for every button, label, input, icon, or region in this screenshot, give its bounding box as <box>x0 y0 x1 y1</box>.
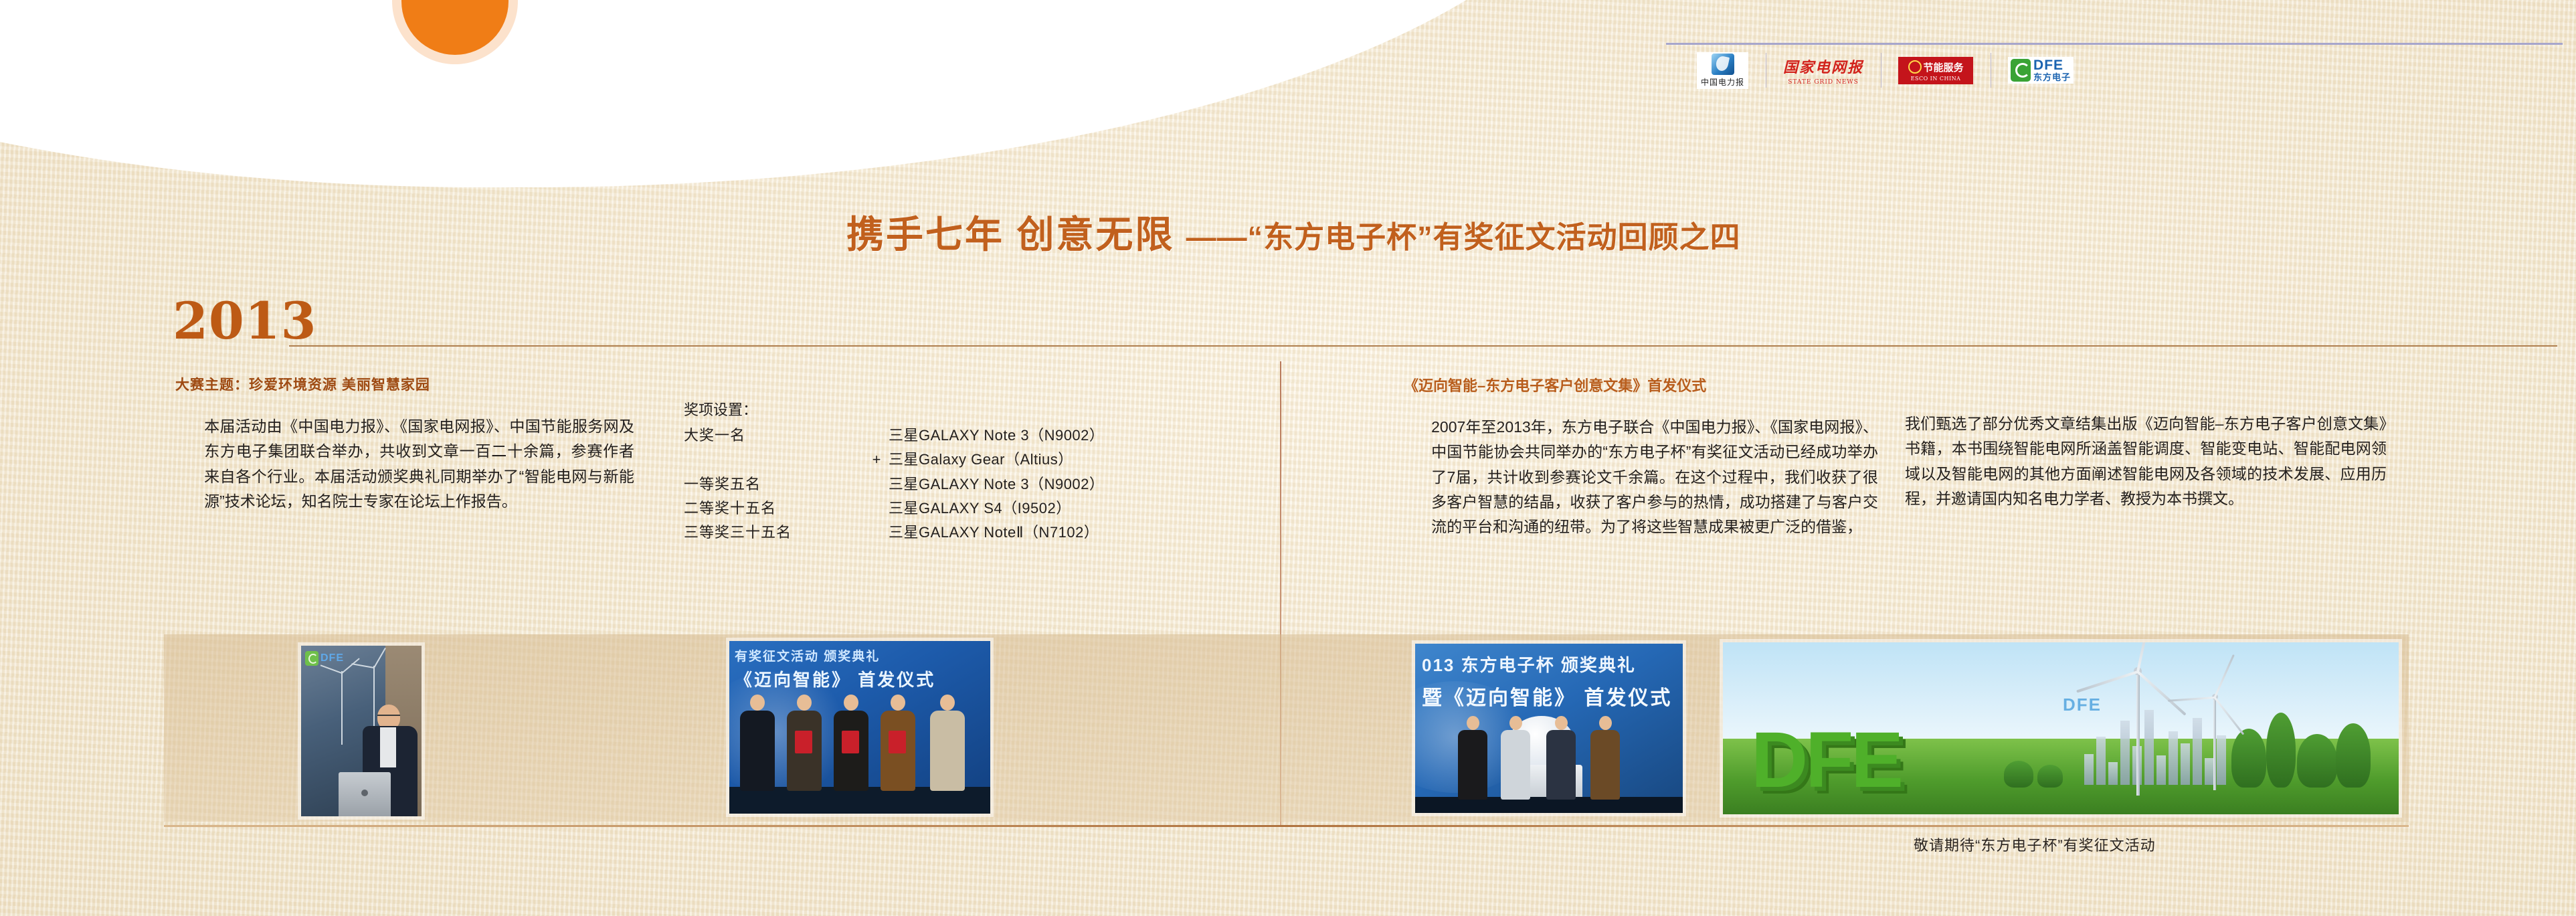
table-row: 二等奖十五名 三星GALAXY S4（I9502） <box>684 496 1104 521</box>
award-label <box>684 448 864 472</box>
award-plus <box>864 521 889 545</box>
award-plus <box>864 472 889 496</box>
person-head <box>1467 716 1479 730</box>
sponsor-logo-bar: 中国电力报 国家电网报 STATE GRID NEWS 节能服务 ESCO IN… <box>1679 50 2563 91</box>
person-body <box>930 711 965 791</box>
eyeglasses-icon <box>377 715 400 721</box>
table-row: 大奖一名 三星GALAXY Note 3（N9002） <box>684 424 1104 448</box>
dfe-3d-logo-text: DFE <box>1751 729 1901 792</box>
page-title-sub: ——“东方电子杯”有奖征文活动回顾之四 <box>1186 220 1741 254</box>
photo-launch-ceremony[interactable]: 013 东方电子杯 颁奖典礼 暨《迈向智能》 首发仪式 <box>1415 644 1683 813</box>
tree-icon <box>2336 723 2371 788</box>
wind-turbine-icon <box>2098 662 2178 796</box>
dfe-logo-text: DFE <box>320 652 344 664</box>
sun-circle-icon <box>401 0 509 55</box>
turbine-blade-icon <box>2214 697 2244 735</box>
esco-ring-icon <box>1908 60 1922 74</box>
logo-label: 国家电网报 <box>1783 56 1863 77</box>
person-figure <box>881 695 915 791</box>
ribbon-band-6 <box>0 0 1646 54</box>
page-title-main: 携手七年 创意无限 <box>846 213 1175 256</box>
contest-subject: 大赛主题：珍爱环境资源 美丽智慧家园 <box>175 374 430 394</box>
award-prize: 三星GALAXY NoteⅡ（N7102） <box>889 521 1104 545</box>
person-head <box>1555 716 1568 730</box>
logo-state-grid-news[interactable]: 国家电网报 STATE GRID NEWS <box>1766 50 1881 90</box>
stage-banner-line-2: 《迈向智能》 首发仪式 <box>735 666 935 691</box>
tree-icon <box>2297 734 2337 788</box>
page-title: 携手七年 创意无限 ——“东方电子杯”有奖征文活动回顾之四 <box>846 205 1741 259</box>
table-row: 三等奖三十五名 三星GALAXY NoteⅡ（N7102） <box>684 521 1104 545</box>
certificate-icon <box>889 731 906 753</box>
logo-dongfang-electronics[interactable]: DFE 东方电子 <box>1991 50 2091 90</box>
person-body <box>1501 730 1530 800</box>
turbine-mast-icon <box>2136 668 2140 796</box>
award-label: 三等奖三十五名 <box>684 521 864 545</box>
header-divider <box>1666 43 2563 45</box>
person-head <box>1599 716 1612 730</box>
table-row: + 三星Galaxy Gear（Altius） <box>684 448 1104 472</box>
wind-turbine-icon <box>2185 690 2245 790</box>
tree-icon <box>2266 713 2296 788</box>
stage-banner-line-1: 013 东方电子杯 颁奖典礼 <box>1422 652 1636 676</box>
award-plus: + <box>864 448 889 472</box>
year-heading: 2013 <box>173 296 317 347</box>
person-figure <box>1590 716 1620 800</box>
person-figure <box>787 695 822 791</box>
photo-dfe-landscape[interactable]: DFE DFE <box>1723 642 2399 814</box>
dfe-logo-icon: DFE <box>305 651 344 666</box>
footer-note: 敬请期待“东方电子杯”有奖征文活动 <box>1914 834 2156 855</box>
stage-floor <box>729 787 990 814</box>
person-head <box>1509 716 1522 730</box>
dfe-mini-logo-text: DFE <box>2063 695 2102 715</box>
table-row: 一等奖五名 三星GALAXY Note 3（N9002） <box>684 472 1104 496</box>
turbine-mast-icon <box>341 671 343 745</box>
photo-award-group[interactable]: 有奖征文活动 颁奖典礼 《迈向智能》 首发仪式 <box>729 641 990 814</box>
tree-icon <box>2037 765 2063 788</box>
awards-block: 奖项设置： 大奖一名 三星GALAXY Note 3（N9002） + 三星Ga… <box>684 398 1259 545</box>
ribbon-band-4 <box>0 0 1633 84</box>
person-figure <box>834 695 868 791</box>
photo-strip: DFE 有奖征文活动 颁奖典礼 《迈向智能》 首发仪式 <box>164 634 2409 822</box>
person-head <box>891 695 905 711</box>
awards-table: 大奖一名 三星GALAXY Note 3（N9002） + 三星Galaxy G… <box>684 424 1104 545</box>
logo-sublabel: DFE <box>2033 58 2063 72</box>
awards-heading: 奖项设置： <box>684 398 1259 420</box>
ribbon-band-2 <box>0 0 1619 124</box>
logo-label: 节能服务 <box>1924 60 1964 74</box>
person-body <box>1590 730 1620 800</box>
year-underline <box>289 345 2557 347</box>
poster-page: 中国电力报 国家电网报 STATE GRID NEWS 节能服务 ESCO IN… <box>0 0 2576 916</box>
ribbon-band-7 <box>0 0 1659 35</box>
logo-sublabel: ESCO IN CHINA <box>1911 76 1961 82</box>
award-label: 二等奖十五名 <box>684 496 864 521</box>
person-figure <box>1501 716 1530 800</box>
book-launch-text-a: 2007年至2013年，东方电子联合《中国电力报》、《国家电网报》、中国节能协会… <box>1400 415 1878 539</box>
award-label: 大奖一名 <box>684 424 864 448</box>
award-plus <box>864 496 889 521</box>
person-figure <box>740 695 775 791</box>
person-head <box>940 695 955 711</box>
stage-banner-line-2: 暨《迈向智能》 首发仪式 <box>1422 681 1672 711</box>
turbine-mast-icon <box>2213 695 2216 790</box>
award-label: 一等奖五名 <box>684 472 864 496</box>
person-figure <box>930 695 965 791</box>
certificate-icon <box>795 731 812 753</box>
ribbon-white-cap <box>0 0 1606 187</box>
award-plus <box>864 424 889 448</box>
photo-speaker-podium[interactable]: DFE <box>301 646 422 816</box>
person-head <box>797 695 812 711</box>
stage-banner-line-1: 有奖征文活动 颁奖典礼 <box>735 646 880 664</box>
award-prize: 三星GALAXY Note 3（N9002） <box>889 472 1104 496</box>
speaker-shirt <box>380 727 396 767</box>
person-head <box>750 695 765 711</box>
person-body <box>1546 730 1576 800</box>
logo-sublabel: STATE GRID NEWS <box>1788 79 1859 86</box>
logo-esco-in-china[interactable]: 节能服务 ESCO IN CHINA <box>1881 50 1991 90</box>
laptop-icon <box>339 772 391 816</box>
book-launch-paragraph-b: 我们甄选了部分优秀文章结集出版《迈向智能–东方电子客户创意文集》书籍，本书围绕智… <box>1905 411 2387 511</box>
award-prize: 三星GALAXY S4（I9502） <box>889 496 1104 521</box>
person-body <box>1458 730 1487 800</box>
china-electric-power-news-mark-icon <box>1712 54 1734 75</box>
dfe-swirl-icon <box>305 651 318 666</box>
person-head <box>844 695 858 711</box>
left-lead-text: 本届活动由《中国电力报》、《国家电网报》、中国节能服务网及东方电子集团联合举办，… <box>173 414 634 514</box>
ribbon-band-3 <box>0 0 1619 97</box>
ribbon-band-5 <box>0 0 1639 67</box>
person-figure <box>1458 716 1487 800</box>
tree-icon <box>2004 761 2033 788</box>
logo-label: 中国电力报 <box>1701 76 1744 88</box>
left-lead-paragraph: 本届活动由《中国电力报》、《国家电网报》、中国节能服务网及东方电子集团联合举办，… <box>173 414 634 514</box>
certificate-icon <box>842 731 859 753</box>
book-launch-heading: 《迈向智能–东方电子客户创意文集》首发仪式 <box>1404 374 1706 395</box>
person-body <box>740 711 775 791</box>
logo-label: 东方电子 <box>2033 72 2071 83</box>
person-figure <box>1546 716 1576 800</box>
green-ribbon-decoration <box>0 0 1740 221</box>
dfe-swirl-icon <box>2011 59 2031 82</box>
logo-china-electric-power-news[interactable]: 中国电力报 <box>1679 50 1766 90</box>
ribbon-band-1 <box>0 0 1619 141</box>
award-prize: 三星Galaxy Gear（Altius） <box>889 448 1104 472</box>
book-launch-paragraph-a: 2007年至2013年，东方电子联合《中国电力报》、《国家电网报》、中国节能协会… <box>1400 415 1878 539</box>
award-prize: 三星GALAXY Note 3（N9002） <box>889 424 1104 448</box>
